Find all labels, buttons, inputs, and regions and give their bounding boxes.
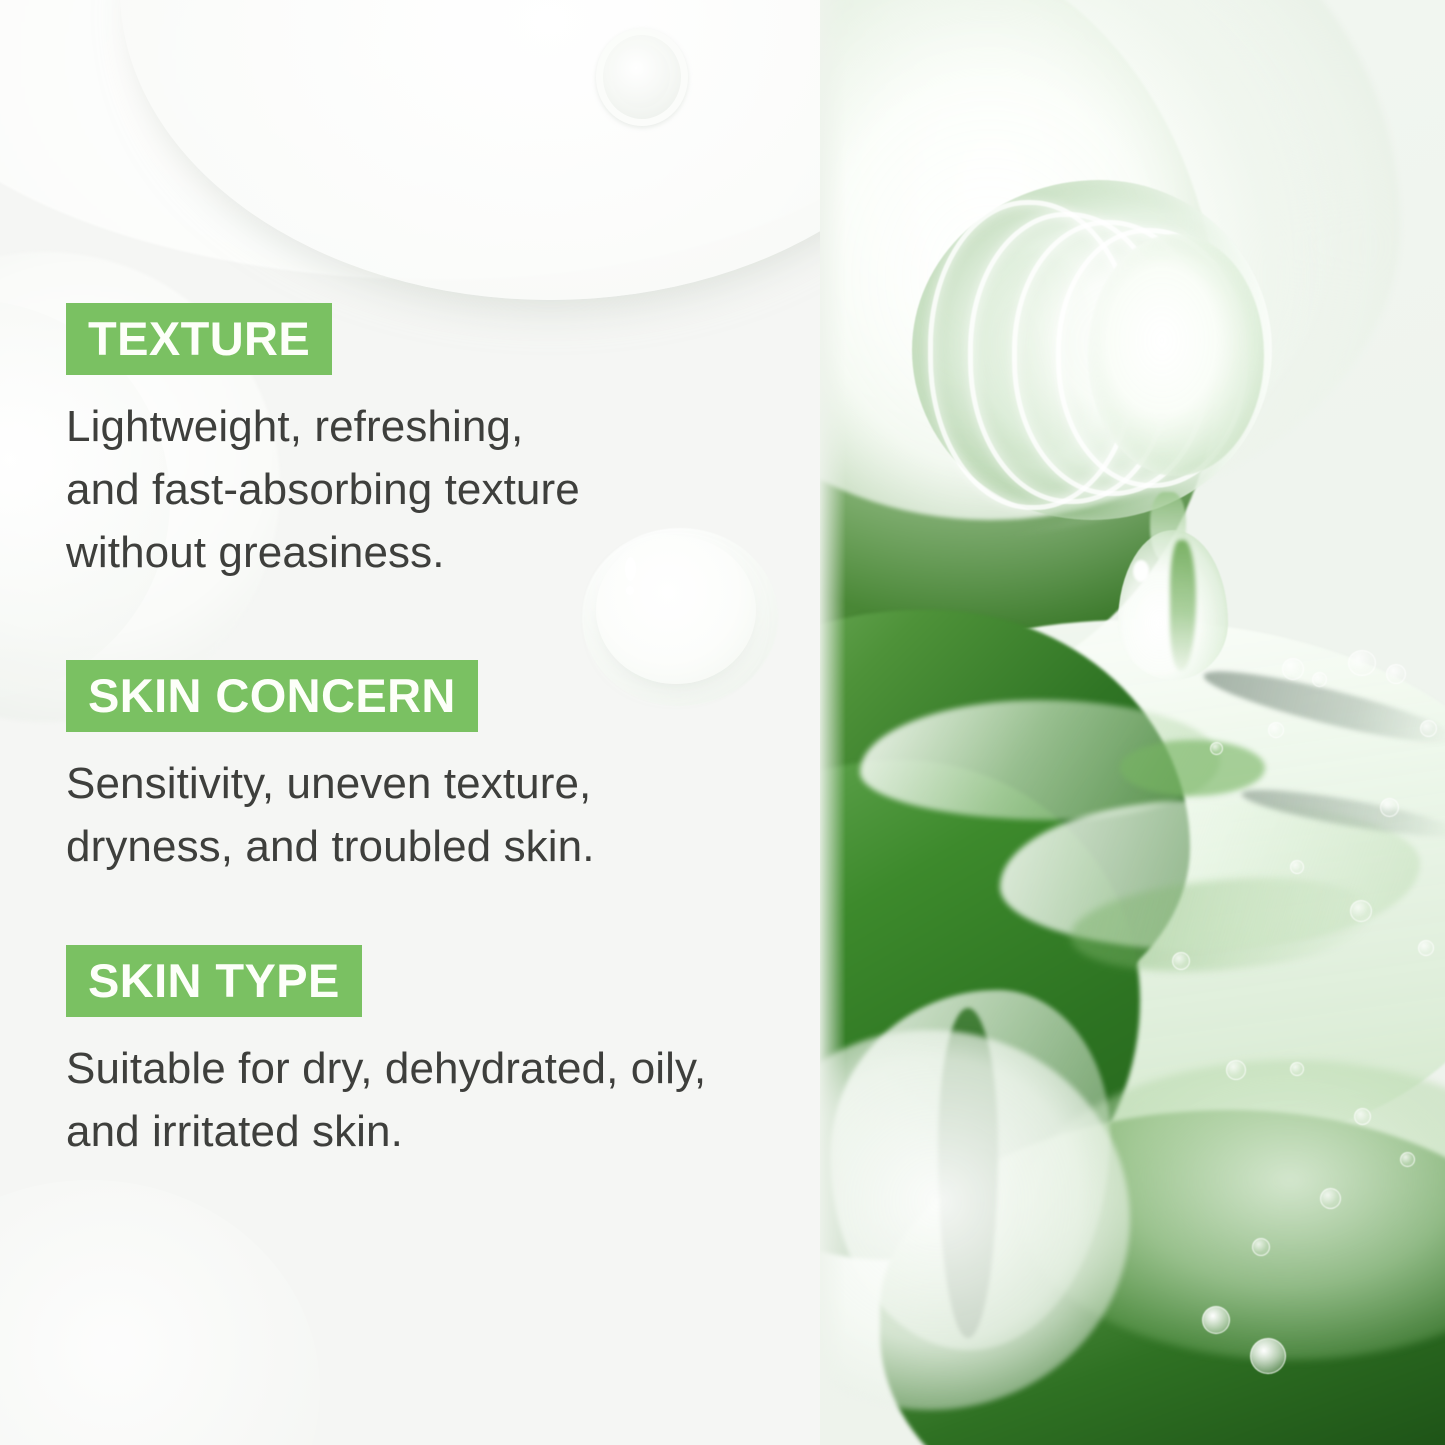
bubble: [1380, 798, 1399, 817]
badge-skin-concern: SKIN CONCERN: [66, 660, 478, 732]
badge-texture: TEXTURE: [66, 303, 332, 375]
bubble: [1282, 658, 1304, 680]
bubble: [1290, 1062, 1304, 1076]
bubble: [1350, 900, 1372, 922]
badge-skin-type: SKIN TYPE: [66, 945, 362, 1017]
description-texture: Lightweight, refreshing, and fast-absorb…: [66, 375, 580, 584]
bubble: [1268, 722, 1284, 738]
bottle-mouth: [1088, 234, 1264, 476]
bubble: [1290, 860, 1304, 874]
feature-texture: TEXTURE Lightweight, refreshing, and fas…: [66, 303, 580, 584]
bubble: [1252, 1238, 1270, 1256]
description-skin-type: Suitable for dry, dehydrated, oily, and …: [66, 1017, 706, 1163]
feature-skin-concern: SKIN CONCERN Sensitivity, uneven texture…: [66, 660, 595, 878]
bubble: [1420, 720, 1437, 737]
bubble: [1386, 664, 1406, 684]
bubble: [1348, 650, 1376, 676]
description-skin-concern: Sensitivity, uneven texture, dryness, an…: [66, 732, 595, 878]
bubble: [1312, 672, 1327, 687]
bubble: [1320, 1188, 1341, 1209]
gel-drop-highlight: [1133, 560, 1149, 582]
bubble: [1172, 952, 1190, 970]
feature-list: TEXTURE Lightweight, refreshing, and fas…: [0, 0, 820, 1445]
bubble: [1354, 1108, 1371, 1125]
panel-edge-fade: [820, 0, 846, 1445]
gel-pool-green-ellipse: [1120, 740, 1265, 796]
bubble: [1250, 1338, 1286, 1374]
bubble: [1418, 940, 1434, 956]
product-feature-graphic: TEXTURE Lightweight, refreshing, and fas…: [0, 0, 1445, 1445]
product-photo: [820, 0, 1445, 1445]
left-info-panel: TEXTURE Lightweight, refreshing, and fas…: [0, 0, 820, 1445]
bubble: [1226, 1060, 1246, 1080]
bubble: [1202, 1306, 1230, 1334]
feature-skin-type: SKIN TYPE Suitable for dry, dehydrated, …: [66, 945, 706, 1163]
bubble: [1210, 742, 1223, 755]
bubble: [1400, 1152, 1415, 1167]
